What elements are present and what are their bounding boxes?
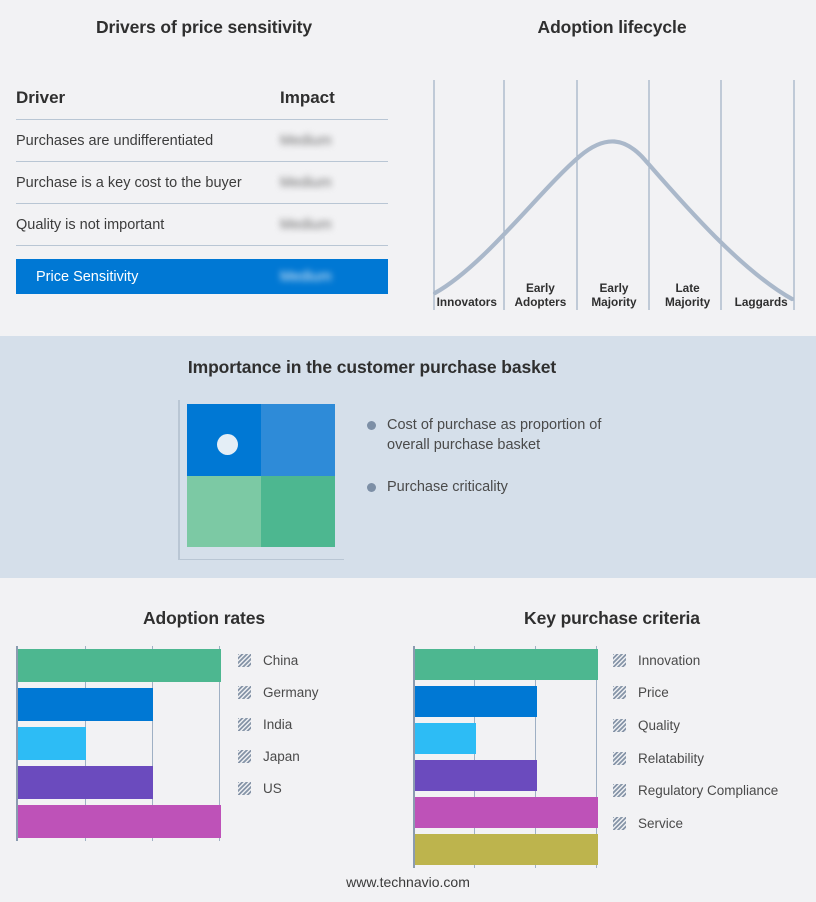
impact-value-redacted: Medium [280,217,388,233]
legend-label: China [263,653,298,668]
legend-item: Relatability [613,751,808,766]
table-row: Purchases are undifferentiated Medium [16,120,388,162]
lifecycle-panel-title: Adoption lifecycle [408,17,816,38]
legend-item: China [238,653,388,668]
adoption-rates-panel-title: Adoption rates [0,608,408,629]
legend-label: Price [638,685,669,700]
footer-url: www.technavio.com [0,874,816,890]
legend-item: Regulatory Compliance [613,783,808,798]
matrix-quadrants [187,404,335,547]
purchase-basket-panel: Importance in the customer purchase bask… [0,336,816,578]
bar [415,723,476,754]
criteria-bar-rows [415,646,598,868]
matrix-y-axis [178,400,180,560]
quadrant-top-right [261,404,335,476]
price-sensitivity-highlight-row: Price Sensitivity Medium [16,259,388,294]
legend-item: US [238,781,388,796]
bar-row [18,685,221,724]
lifecycle-label-early-majority: EarlyMajority [577,282,651,310]
bar [18,766,153,799]
legend-item: India [238,717,388,732]
matrix-position-marker [217,434,238,455]
bar-row [415,831,598,868]
column-header-driver: Driver [16,88,280,108]
adoption-rates-legend: ChinaGermanyIndiaJapanUS [238,644,388,804]
table-row: Quality is not important Medium [16,204,388,246]
table-row: Purchase is a key cost to the buyer Medi… [16,162,388,204]
bar [415,797,598,828]
bullet-icon [367,483,376,492]
drivers-panel: Drivers of price sensitivity Driver Impa… [0,0,408,336]
bar [18,688,153,721]
hatch-swatch-icon [613,817,626,830]
key-purchase-criteria-legend: InnovationPriceQualityRelatabilityRegula… [613,644,808,840]
bar-row [415,646,598,683]
driver-label: Price Sensitivity [36,269,280,285]
legend-label: Service [638,816,683,831]
legend-item: Germany [238,685,388,700]
legend-label: India [263,717,292,732]
legend-label: Cost of purchase as proportion of overal… [387,415,647,455]
key-purchase-criteria-panel-title: Key purchase criteria [408,608,816,629]
drivers-table-header: Driver Impact [16,88,388,120]
bar-row [415,794,598,831]
legend-label: Germany [263,685,319,700]
legend-label: Quality [638,718,680,733]
hatch-swatch-icon [238,718,251,731]
driver-label: Purchases are undifferentiated [16,133,280,149]
legend-item: Price [613,685,808,700]
lifecycle-label-laggards: Laggards [724,296,798,311]
adoption-rates-chart [16,646,221,841]
lifecycle-label-innovators: Innovators [430,296,504,311]
hatch-swatch-icon [613,686,626,699]
bar [415,649,598,680]
impact-value-redacted: Medium [280,269,388,285]
quadrant-bottom-left [187,476,261,548]
legend-item: Service [613,816,808,831]
bar-row [18,646,221,685]
bar-row [415,757,598,794]
purchase-basket-legend: Cost of purchase as proportion of overal… [367,415,667,519]
legend-label: Innovation [638,653,700,668]
list-item: Purchase criticality [367,477,667,497]
legend-item: Innovation [613,653,808,668]
drivers-panel-title: Drivers of price sensitivity [0,17,408,38]
column-header-impact: Impact [280,88,388,108]
driver-label: Quality is not important [16,217,280,233]
legend-label: Regulatory Compliance [638,783,778,798]
hatch-swatch-icon [238,654,251,667]
hatch-swatch-icon [238,782,251,795]
hatch-swatch-icon [613,752,626,765]
lifecycle-label-late-majority: LateMajority [651,282,725,310]
adoption-bar-rows [18,646,221,841]
key-purchase-criteria-chart [413,646,598,868]
quadrant-bottom-right [261,476,335,548]
impact-value-redacted: Medium [280,133,388,149]
lifecycle-segment-labels: Innovators EarlyAdopters EarlyMajority L… [430,268,798,310]
bar [415,686,537,717]
bar [18,805,221,838]
driver-label: Purchase is a key cost to the buyer [16,175,280,191]
matrix-x-axis [178,559,344,561]
hatch-swatch-icon [613,784,626,797]
lifecycle-panel: Adoption lifecycle Innovators EarlyAdopt… [408,0,816,336]
bar-row [18,724,221,763]
quadrant-matrix [178,400,344,560]
lifecycle-label-early-adopters: EarlyAdopters [504,282,578,310]
hatch-swatch-icon [613,654,626,667]
legend-label: Purchase criticality [387,477,508,497]
bar [415,760,537,791]
adoption-rates-panel: Adoption rates ChinaGermanyIndiaJapanUS [0,578,408,902]
bar-row [18,802,221,841]
hatch-swatch-icon [613,719,626,732]
legend-item: Quality [613,718,808,733]
hatch-swatch-icon [238,686,251,699]
legend-label: Relatability [638,751,704,766]
bar [18,649,221,682]
key-purchase-criteria-panel: Key purchase criteria InnovationPriceQua… [408,578,816,902]
legend-item: Japan [238,749,388,764]
purchase-basket-panel-title: Importance in the customer purchase bask… [0,357,744,378]
list-item: Cost of purchase as proportion of overal… [367,415,667,455]
bar [18,727,86,760]
drivers-table: Driver Impact Purchases are undifferenti… [16,88,388,294]
bar [415,834,598,865]
legend-label: US [263,781,282,796]
bar-row [415,720,598,757]
impact-value-redacted: Medium [280,175,388,191]
legend-label: Japan [263,749,300,764]
bar-row [18,763,221,802]
hatch-swatch-icon [238,750,251,763]
bullet-icon [367,421,376,430]
bar-row [415,683,598,720]
